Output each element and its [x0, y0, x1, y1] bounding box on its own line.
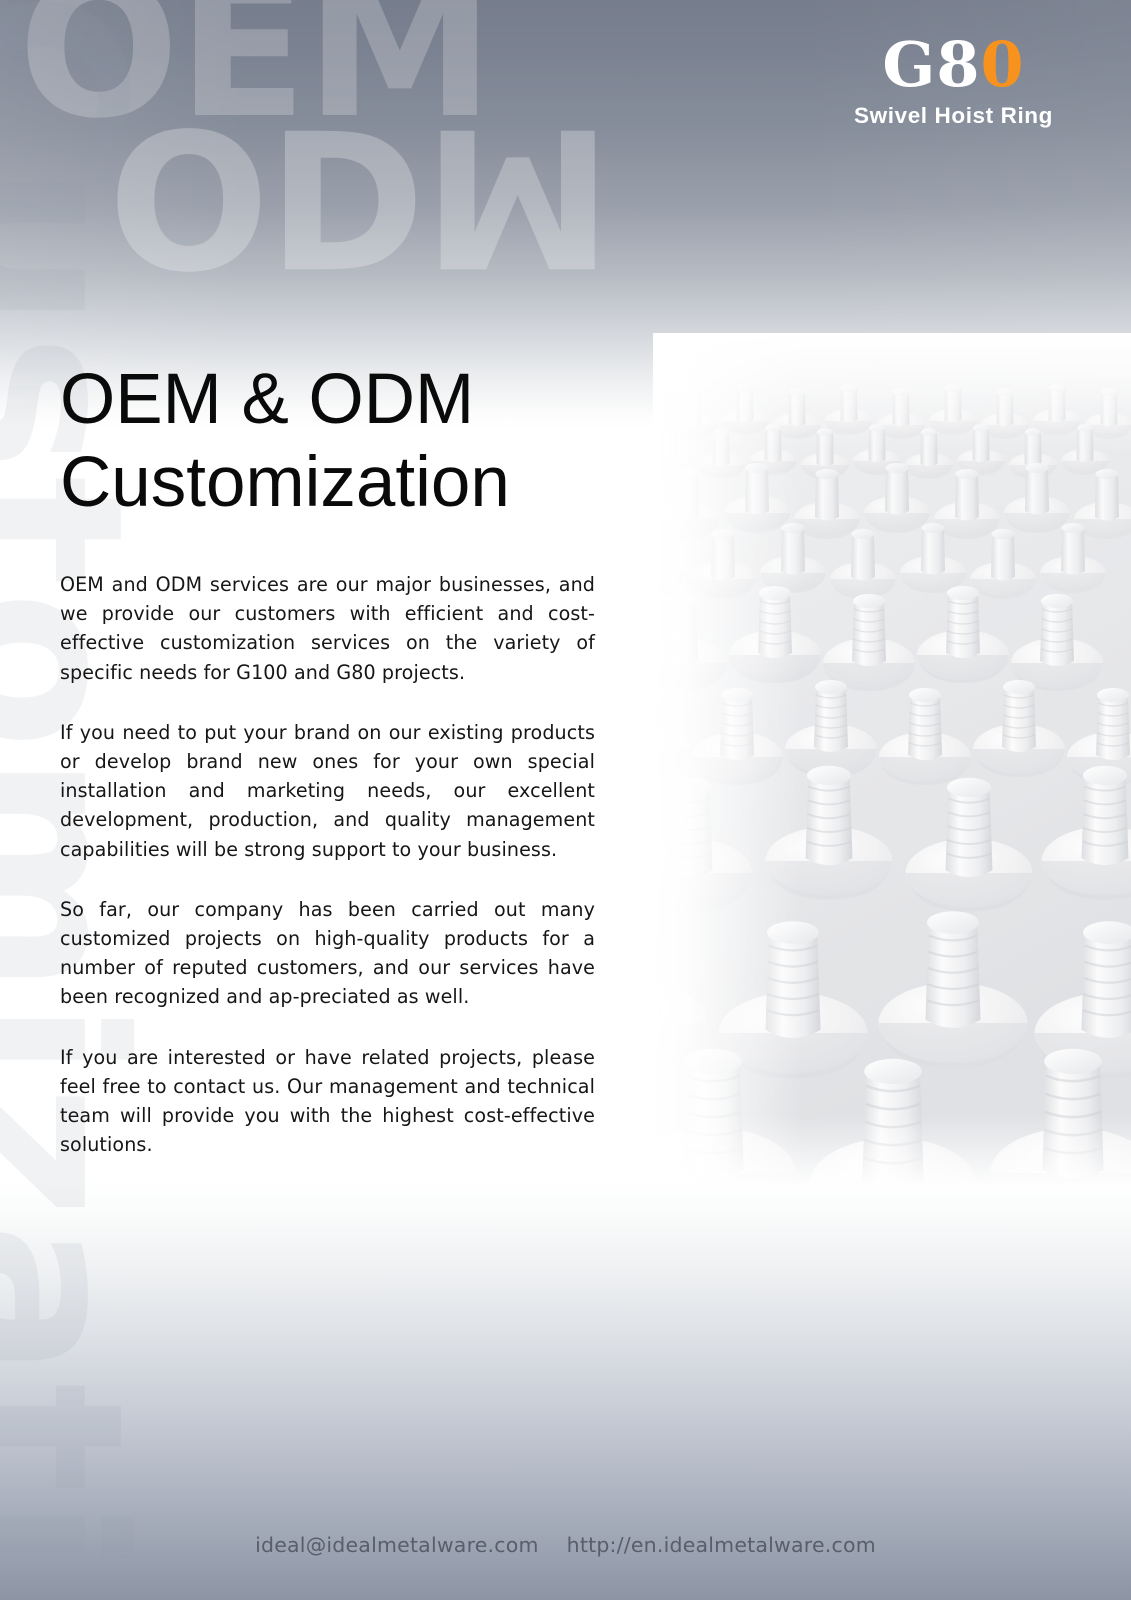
- footer: ideal@idealmetalware.comhttp://en.idealm…: [0, 1533, 1131, 1557]
- footer-email[interactable]: ideal@idealmetalware.com: [255, 1533, 539, 1557]
- brochure-page: OEM ODM Customization: [0, 0, 1131, 1600]
- page-title-line-2: Customization: [60, 441, 660, 524]
- body-paragraph-4: If you are interested or have related pr…: [60, 1043, 595, 1160]
- photo-left-fade: [653, 333, 803, 1185]
- product-photo: [653, 333, 1131, 1185]
- body-copy: OEM and ODM services are our major busin…: [60, 570, 595, 1159]
- logo: G80 Swivel Hoist Ring: [854, 34, 1053, 129]
- photo-top-fade: [653, 333, 1131, 453]
- footer-website[interactable]: http://en.idealmetalware.com: [567, 1533, 876, 1557]
- body-paragraph-3: So far, our company has been carried out…: [60, 895, 595, 1012]
- page-title-line-1: OEM & ODM: [60, 358, 660, 441]
- logo-tagline: Swivel Hoist Ring: [854, 103, 1053, 129]
- logo-wordmark: G80: [854, 34, 1053, 96]
- photo-bottom-fade: [653, 1115, 1131, 1185]
- logo-g8-text: G8: [882, 28, 980, 101]
- logo-zero-text: 0: [980, 28, 1024, 101]
- body-paragraph-1: OEM and ODM services are our major busin…: [60, 570, 595, 687]
- page-title: OEM & ODM Customization: [60, 358, 660, 524]
- body-paragraph-2: If you need to put your brand on our exi…: [60, 718, 595, 864]
